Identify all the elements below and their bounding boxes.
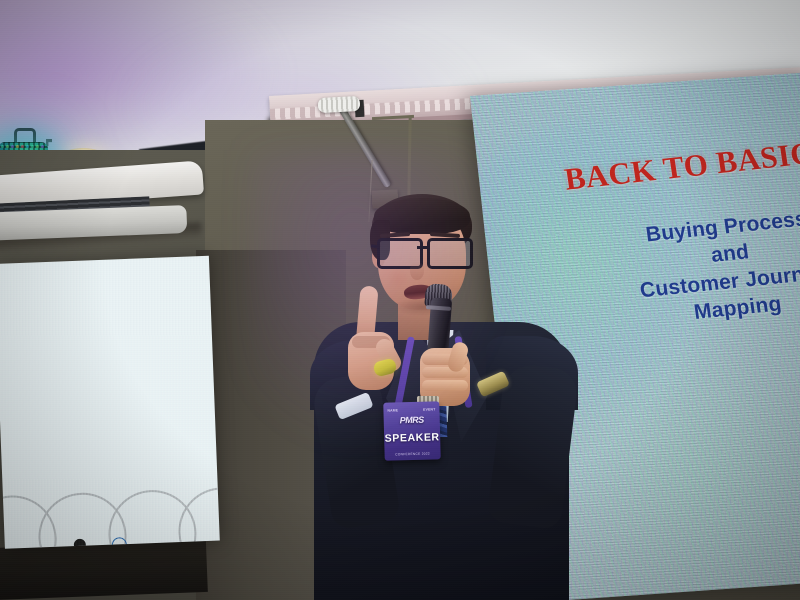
disco-light-pixel: [11, 145, 14, 148]
disco-light-pixel: [26, 145, 29, 148]
left-screen-lower-dark-area: [0, 540, 208, 600]
badge-logo: PMRS: [400, 415, 424, 426]
speaker-badge[interactable]: NAME EVENT PMRS SPEAKER CONFERENCE 2022: [383, 401, 440, 460]
glasses-bridge: [417, 246, 429, 249]
speaker-figure: NAME EVENT PMRS SPEAKER CONFERENCE 2022: [300, 190, 600, 600]
secondary-projection-screen[interactable]: CÂN NHẮCMUA HÀNGQUAY LẠIỦNG HỘSOCIAL ADS…: [0, 256, 220, 549]
disco-light-pixel: [16, 145, 19, 148]
eyeglasses-icon: [375, 238, 471, 264]
badge-top-left-text: NAME: [387, 408, 398, 412]
presentation-scene: BACK TO BASIC Buying Process and Custome…: [0, 0, 800, 600]
mic-finger-3: [422, 380, 468, 391]
disco-light-pixel: [1, 145, 4, 148]
badge-footer-text: CONFERENCE 2022: [385, 451, 441, 456]
customer-journey-map: CÂN NHẮCMUA HÀNGQUAY LẠIỦNG HỘSOCIAL ADS…: [0, 256, 220, 549]
disco-light-pixel: [21, 145, 24, 148]
pointing-hand: [344, 286, 396, 394]
lens-right: [427, 238, 473, 269]
journey-arc: [177, 486, 220, 549]
badge-role-label: SPEAKER: [384, 431, 440, 444]
nose: [410, 262, 424, 280]
disco-light-pixel: [6, 145, 9, 148]
badge-header: NAME EVENT: [387, 404, 435, 414]
projector-mount-collar: [318, 96, 361, 113]
air-conditioner-icon: [0, 160, 207, 254]
disco-light-pixel: [31, 145, 34, 148]
badge-top-right-text: EVENT: [423, 407, 435, 411]
disco-light-pixel: [41, 145, 44, 148]
disco-light-pixel: [36, 145, 39, 148]
